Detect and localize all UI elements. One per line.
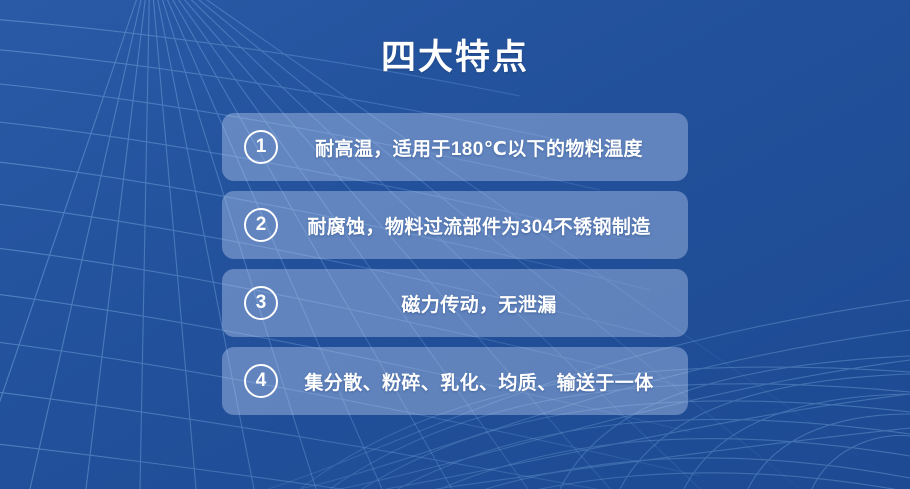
feature-text-3: 磁力传动，无泄漏 — [278, 290, 688, 317]
feature-item-3[interactable]: 3 磁力传动，无泄漏 — [222, 269, 688, 337]
feature-list: 1 耐高温，适用于180℃以下的物料温度 2 耐腐蚀，物料过流部件为304不锈钢… — [222, 113, 688, 425]
feature-number-badge-4: 4 — [244, 364, 278, 398]
feature-number-badge-2: 2 — [244, 208, 278, 242]
feature-item-4[interactable]: 4 集分散、粉碎、乳化、均质、输送于一体 — [222, 347, 688, 415]
feature-item-1[interactable]: 1 耐高温，适用于180℃以下的物料温度 — [222, 113, 688, 181]
feature-item-2[interactable]: 2 耐腐蚀，物料过流部件为304不锈钢制造 — [222, 191, 688, 259]
feature-number-badge-3: 3 — [244, 286, 278, 320]
feature-number-badge-1: 1 — [244, 130, 278, 164]
feature-banner: 四大特点 1 耐高温，适用于180℃以下的物料温度 2 耐腐蚀，物料过流部件为3… — [0, 0, 910, 489]
feature-text-4: 集分散、粉碎、乳化、均质、输送于一体 — [278, 368, 688, 395]
feature-text-1: 耐高温，适用于180℃以下的物料温度 — [278, 134, 688, 161]
page-title: 四大特点 — [0, 36, 910, 80]
feature-text-2: 耐腐蚀，物料过流部件为304不锈钢制造 — [278, 212, 688, 239]
